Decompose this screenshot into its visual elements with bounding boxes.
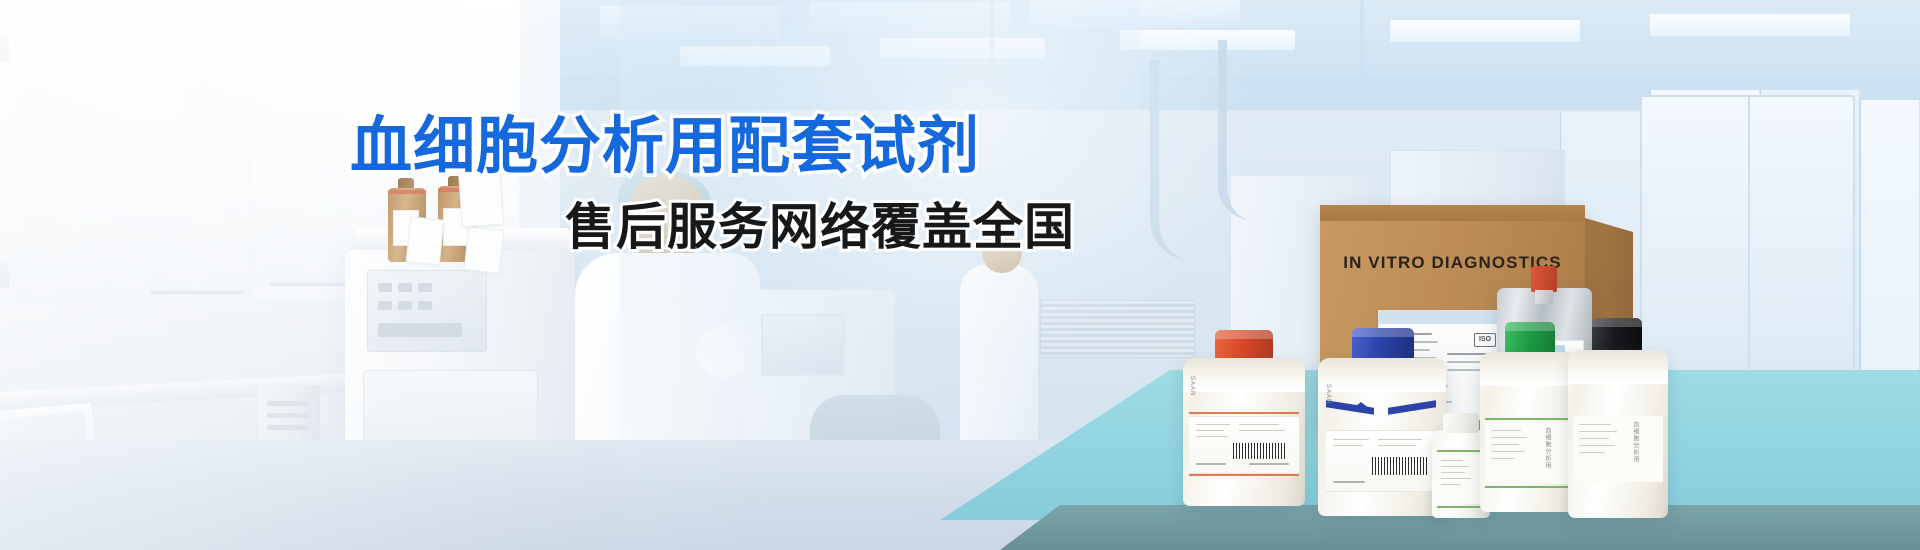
label-line <box>1579 424 1611 425</box>
label-line <box>1491 444 1519 445</box>
label-stripe <box>1437 450 1485 452</box>
label-line <box>1333 481 1365 483</box>
label-line <box>1196 463 1226 465</box>
bottle-orange-cap: SAAN <box>1183 358 1305 506</box>
barcode <box>1233 443 1285 459</box>
bottle-side-text: 血细胞分析用 <box>1631 421 1640 463</box>
label-line <box>1333 445 1363 446</box>
label-stripe <box>1437 506 1485 508</box>
label-line <box>1491 451 1525 452</box>
bottle-label <box>1189 416 1299 474</box>
label-line <box>1239 424 1279 425</box>
label-header-band <box>1379 311 1505 324</box>
label-line <box>1441 484 1461 485</box>
page-title: 血细胞分析用配套试剂 <box>350 112 980 182</box>
bottle-side-text: SAAN <box>1189 376 1195 396</box>
label-stripe <box>1485 418 1575 420</box>
label-line <box>1196 436 1228 437</box>
bottle-green-cap: 血细胞分析用 <box>1480 352 1580 512</box>
label-line <box>1441 460 1463 461</box>
iso-certification-mark: ISO <box>1474 333 1496 347</box>
label-line <box>1333 439 1369 440</box>
ceiling-light <box>1390 20 1580 42</box>
carton-flap <box>1320 205 1585 221</box>
bottle-label <box>1326 430 1438 492</box>
hero-banner: IN VITRO DIAGNOSTICS ISO SAAN <box>0 0 1920 550</box>
bottle-black-cap: 血细胞分析用 <box>1568 350 1668 518</box>
bottle-label: 血细胞分析用 <box>1573 416 1663 482</box>
blue-cap <box>1352 328 1414 362</box>
label-line <box>1579 445 1615 446</box>
bottle-side-text: SAAN <box>1325 384 1331 404</box>
bottle-blue-cap: SAAN <box>1318 358 1446 516</box>
bottle-label <box>1437 454 1485 504</box>
label-line <box>1579 431 1617 432</box>
label-line <box>1491 437 1527 438</box>
label-line <box>1239 430 1285 431</box>
label-stripe <box>1485 486 1575 488</box>
label-line <box>1196 430 1224 431</box>
label-line <box>1378 439 1422 440</box>
label-line <box>1579 452 1605 453</box>
ceiling-light <box>1650 14 1850 36</box>
bottle-label: 血细胞分析用 <box>1485 422 1575 484</box>
brand-stripe-right <box>1388 400 1436 415</box>
bottle-shoulder <box>1183 358 1305 392</box>
barcode <box>1372 457 1428 475</box>
label-line <box>1249 463 1289 465</box>
bottle-side-text: 血细胞分析用 <box>1543 427 1552 469</box>
bottle-shoulder <box>1480 352 1580 386</box>
label-line <box>1579 438 1609 439</box>
label-line <box>1441 472 1465 473</box>
bottle-shoulder <box>1318 358 1446 392</box>
label-line <box>1441 478 1471 479</box>
scene-haze <box>0 0 760 550</box>
label-stripe <box>1189 412 1299 414</box>
label-line <box>1378 445 1416 446</box>
label-line <box>1196 424 1230 425</box>
pouch-red-cap <box>1531 266 1557 292</box>
bottle-shoulder <box>1568 350 1668 384</box>
label-line <box>1491 458 1515 459</box>
white-cap <box>1443 413 1479 433</box>
label-line <box>1441 466 1469 467</box>
page-subtitle: 售后服务网络覆盖全国 <box>565 198 1075 256</box>
label-line <box>1491 430 1521 431</box>
pouch-neck <box>1535 290 1553 304</box>
label-stripe <box>1189 474 1299 476</box>
